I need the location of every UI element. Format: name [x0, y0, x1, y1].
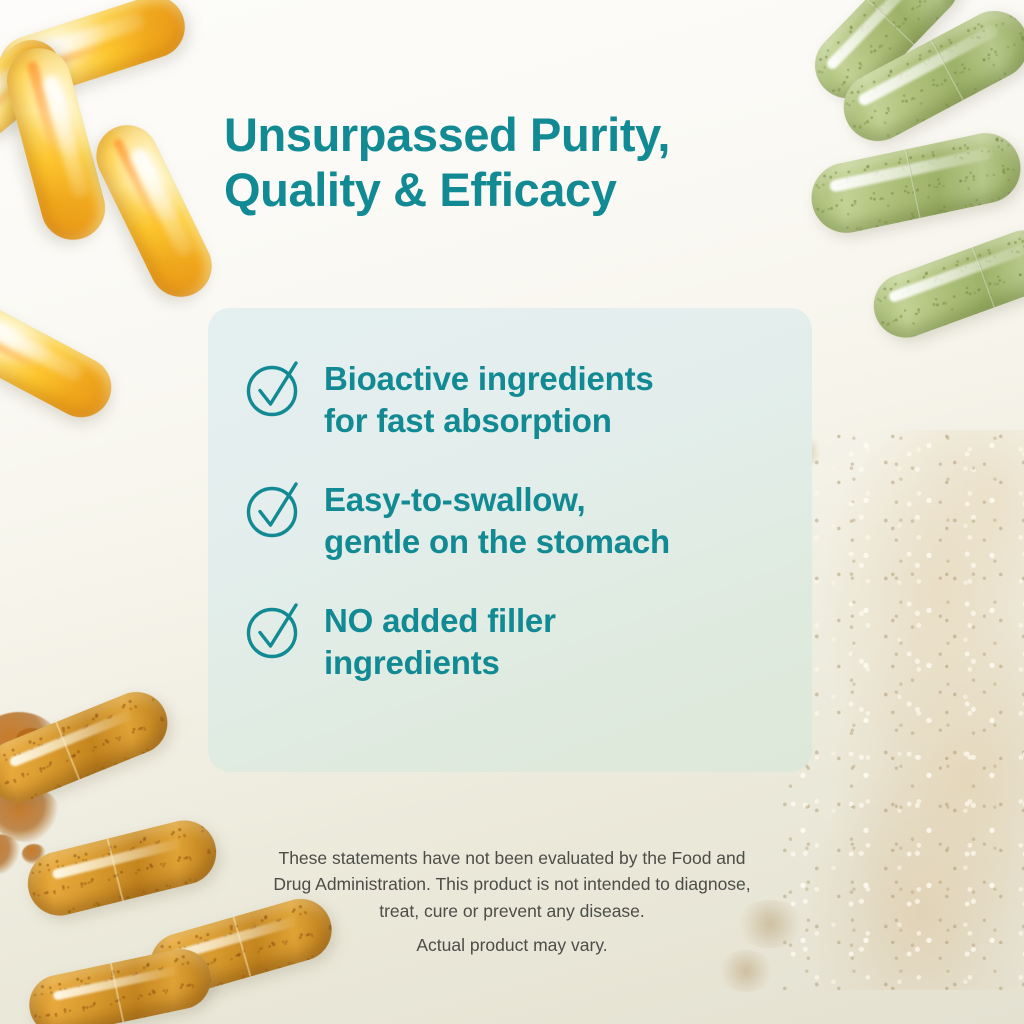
turmeric-capsule	[0, 683, 177, 812]
softgel-capsule	[0, 292, 122, 428]
list-item: Easy-to-swallow, gentle on the stomach	[246, 479, 784, 562]
spilled-turmeric-powder	[0, 786, 60, 842]
softgel-capsule	[0, 28, 73, 150]
product-variation-note: Actual product may vary.	[202, 932, 822, 958]
green-capsule	[805, 127, 1024, 240]
feature-label: Bioactive ingredients for fast absorptio…	[324, 358, 654, 441]
feature-list: Bioactive ingredients for fast absorptio…	[208, 308, 812, 772]
spilled-turmeric-powder	[16, 728, 46, 752]
list-item: Bioactive ingredients for fast absorptio…	[246, 358, 784, 441]
check-circle-icon	[246, 360, 302, 423]
spilled-turmeric-powder	[0, 834, 22, 874]
softgel-capsule	[0, 41, 112, 247]
page-title: Unsurpassed Purity, Quality & Efficacy	[224, 108, 824, 217]
softgel-capsule	[86, 115, 222, 308]
product-benefits-poster: Unsurpassed Purity, Quality & Efficacy B…	[0, 0, 1024, 1024]
green-capsule	[801, 0, 972, 112]
check-circle-icon	[246, 602, 302, 665]
check-circle-icon	[246, 481, 302, 544]
turmeric-capsule	[24, 944, 216, 1024]
feature-label: NO added filler ingredients	[324, 600, 556, 683]
list-item: NO added filler ingredients	[246, 600, 784, 683]
feature-label: Easy-to-swallow, gentle on the stomach	[324, 479, 670, 562]
softgel-capsule	[0, 0, 193, 106]
spilled-turmeric-powder	[0, 712, 62, 784]
green-capsule	[832, 0, 1024, 153]
decor-top-left-softgels	[0, 0, 240, 420]
features-card: Bioactive ingredients for fast absorptio…	[208, 308, 812, 772]
turmeric-capsule	[21, 814, 223, 923]
green-capsule	[865, 221, 1024, 346]
spilled-turmeric-powder	[22, 844, 46, 864]
fda-disclaimer: These statements have not been evaluated…	[202, 845, 822, 924]
